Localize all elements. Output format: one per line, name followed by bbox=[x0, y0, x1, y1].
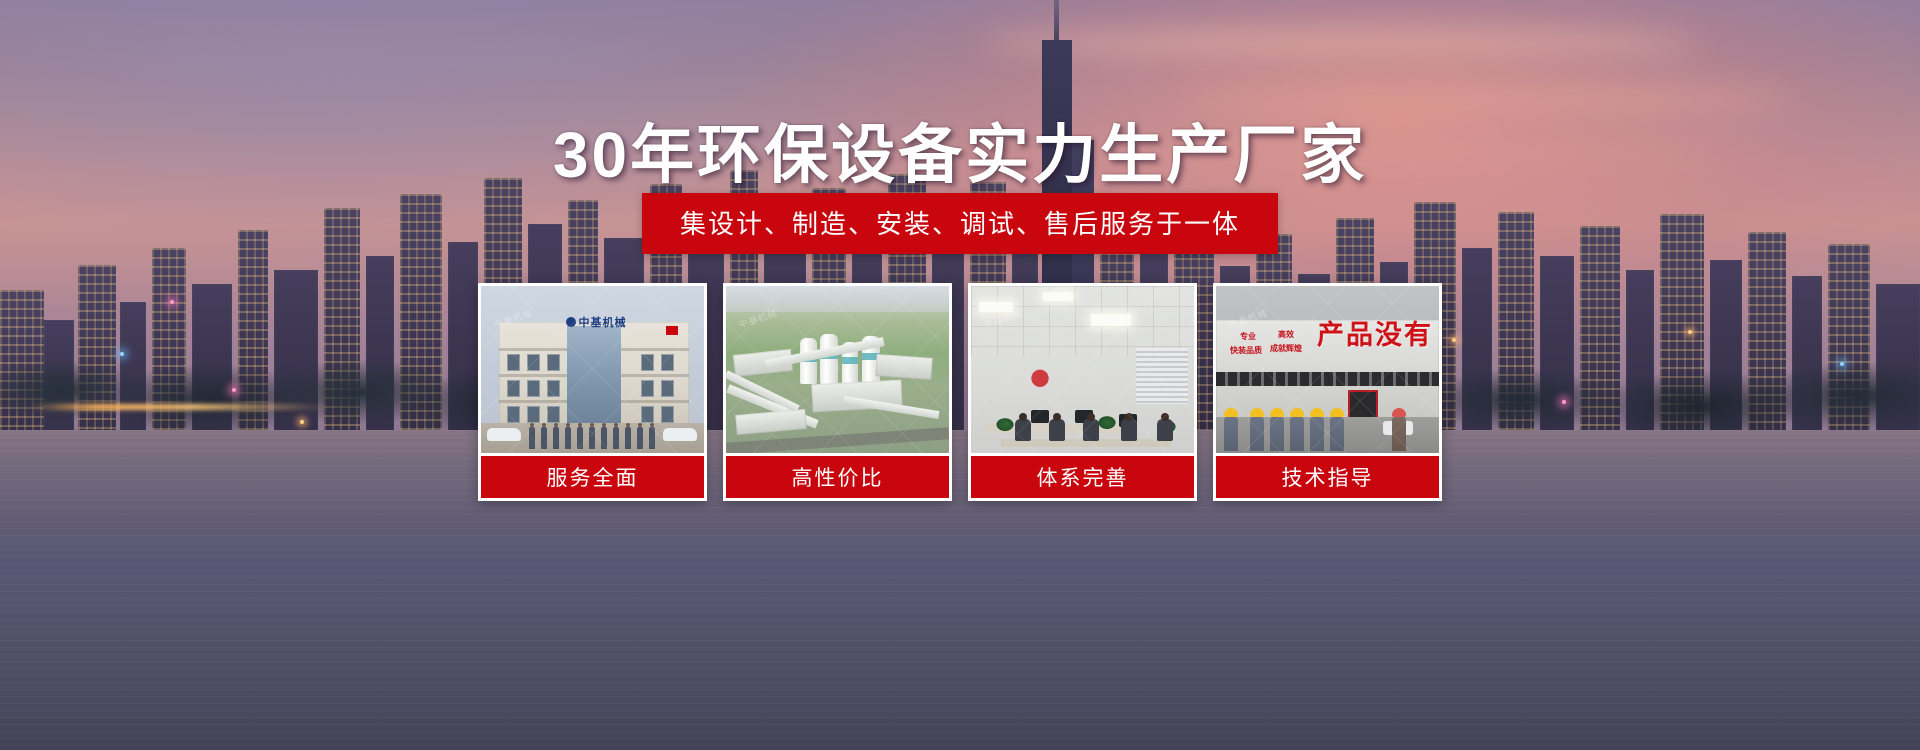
building-signage: 中基机械 bbox=[541, 314, 651, 329]
card-photo-office-interior: 中基机械 bbox=[971, 286, 1194, 453]
page-title: 30年环保设备实力生产厂家 bbox=[0, 104, 1920, 196]
company-logo-icon bbox=[566, 317, 576, 327]
feature-card[interactable]: 产品没有 专业 快装品质 高效 成就辉煌 bbox=[1213, 283, 1442, 501]
card-caption: 技术指导 bbox=[1216, 456, 1439, 498]
card-caption: 体系完善 bbox=[971, 456, 1194, 498]
card-photo-factory-workers: 产品没有 专业 快装品质 高效 成就辉煌 bbox=[1216, 286, 1439, 453]
factory-slogan-4: 成就辉煌 bbox=[1270, 344, 1302, 354]
factory-slogan-2: 快装品质 bbox=[1230, 346, 1262, 356]
factory-slogan-1: 专业 bbox=[1240, 332, 1256, 342]
card-photo-plant-aerial: 中基机械 bbox=[726, 286, 949, 453]
feature-card[interactable]: 中基机械 高性价比 bbox=[723, 283, 952, 501]
card-caption: 高性价比 bbox=[726, 456, 949, 498]
flag-icon bbox=[666, 326, 678, 335]
card-caption: 服务全面 bbox=[481, 456, 704, 498]
feature-card[interactable]: 中基机械 bbox=[478, 283, 707, 501]
factory-slogan-3: 高效 bbox=[1278, 330, 1294, 340]
feature-card-list: 中基机械 bbox=[478, 283, 1442, 501]
window-blinds bbox=[1136, 348, 1188, 404]
wall-logo-icon bbox=[1023, 364, 1057, 390]
card-photo-office-building: 中基机械 bbox=[481, 286, 704, 453]
feature-card[interactable]: 中基机械 体系完善 bbox=[968, 283, 1197, 501]
hero-banner: 30年环保设备实力生产厂家 集设计、制造、安装、调试、售后服务于一体 bbox=[0, 0, 1920, 750]
subtitle-text: 集设计、制造、安装、调试、售后服务于一体 bbox=[680, 204, 1240, 241]
company-name-sign: 中基机械 bbox=[579, 314, 627, 330]
subtitle-banner: 集设计、制造、安装、调试、售后服务于一体 bbox=[642, 193, 1278, 254]
factory-wall-headline: 产品没有 bbox=[1317, 322, 1433, 349]
